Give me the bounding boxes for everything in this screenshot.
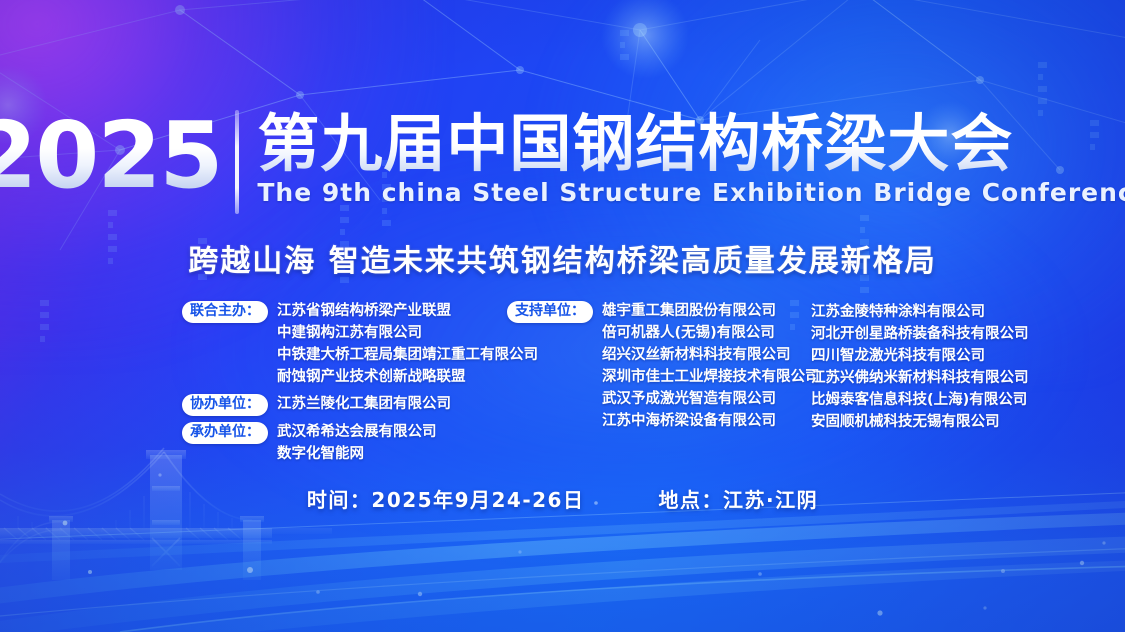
organizer-group-host: 承办单位： 武汉希希达会展有限公司 数字化智能网 (182, 421, 507, 465)
list-item: 江苏兴佛纳米新材料科技有限公司 (811, 367, 1062, 389)
list-item: 河北开创星路桥装备科技有限公司 (811, 323, 1062, 345)
page-title-english: The 9th china Steel Structure Exhibition… (257, 178, 1125, 208)
list-item: 江苏省钢结构桥梁产业联盟 (277, 300, 538, 322)
supporter-list-continued: 江苏金陵特种涂料有限公司 河北开创星路桥装备科技有限公司 四川智龙激光科技有限公… (802, 301, 1062, 433)
co-organizer-list: 江苏兰陵化工集团有限公司 (268, 393, 451, 415)
list-item: 江苏金陵特种涂料有限公司 (811, 301, 1062, 323)
list-item: 武汉希希达会展有限公司 (277, 421, 437, 443)
conference-banner: 2025 第九届中国钢结构桥梁大会 The 9th china Steel St… (0, 0, 1125, 632)
event-location: 地点：江苏·江阴 (658, 484, 818, 513)
list-item: 四川智龙激光科技有限公司 (811, 345, 1062, 367)
list-item: 江苏中海桥梁设备有限公司 (602, 410, 820, 432)
event-date: 时间：2025年9月24-26日 (307, 484, 585, 513)
organizer-group-co-host: 联合主办： 江苏省钢结构桥梁产业联盟 中建钢构江苏有限公司 中铁建大桥工程局集团… (182, 300, 507, 388)
list-item: 中建钢构江苏有限公司 (277, 322, 538, 344)
organizer-column-middle: 支持单位： 雄宇重工集团股份有限公司 倍可机器人(无锡)有限公司 绍兴汉丝新材料… (507, 300, 802, 437)
list-item: 中铁建大桥工程局集团靖江重工有限公司 (277, 344, 538, 366)
supporter-list: 雄宇重工集团股份有限公司 倍可机器人(无锡)有限公司 绍兴汉丝新材料科技有限公司… (593, 300, 820, 432)
label-co-host: 联合主办： (182, 301, 268, 323)
organizer-group-supporter: 支持单位： 雄宇重工集团股份有限公司 倍可机器人(无锡)有限公司 绍兴汉丝新材料… (507, 300, 802, 432)
headline-block: 2025 第九届中国钢结构桥梁大会 The 9th china Steel St… (0, 108, 1125, 214)
event-details: 时间：2025年9月24-26日 地点：江苏·江阴 (0, 484, 1125, 513)
host-list: 武汉希希达会展有限公司 数字化智能网 (268, 421, 437, 465)
year-2025: 2025 (0, 108, 235, 204)
organizer-columns: 联合主办： 江苏省钢结构桥梁产业联盟 中建钢构江苏有限公司 中铁建大桥工程局集团… (182, 300, 1062, 470)
list-item: 武汉予成激光智造有限公司 (602, 388, 820, 410)
list-item: 比姆泰客信息科技(上海)有限公司 (811, 389, 1062, 411)
organizer-group-co-organizer: 协办单位： 江苏兰陵化工集团有限公司 (182, 393, 507, 416)
list-item: 绍兴汉丝新材料科技有限公司 (602, 344, 820, 366)
organizer-column-left: 联合主办： 江苏省钢结构桥梁产业联盟 中建钢构江苏有限公司 中铁建大桥工程局集团… (182, 300, 507, 470)
list-item: 雄宇重工集团股份有限公司 (602, 300, 820, 322)
label-co-organizer: 协办单位： (182, 394, 268, 416)
label-host: 承办单位： (182, 422, 268, 444)
list-item: 耐蚀钢产业技术创新战略联盟 (277, 366, 538, 388)
list-item: 数字化智能网 (277, 443, 437, 465)
co-host-list: 江苏省钢结构桥梁产业联盟 中建钢构江苏有限公司 中铁建大桥工程局集团靖江重工有限… (268, 300, 538, 388)
page-title: 第九届中国钢结构桥梁大会 (257, 108, 1125, 180)
list-item: 安固顺机械科技无锡有限公司 (811, 411, 1062, 433)
list-item: 深圳市佳士工业焊接技术有限公司 (602, 366, 820, 388)
organizer-column-right: 江苏金陵特种涂料有限公司 河北开创星路桥装备科技有限公司 四川智龙激光科技有限公… (802, 300, 1062, 433)
subtitle-slogan: 跨越山海 智造未来共筑钢结构桥梁高质量发展新格局 (0, 236, 1125, 280)
label-supporter: 支持单位： (507, 301, 593, 323)
list-item: 江苏兰陵化工集团有限公司 (277, 393, 451, 415)
list-item: 倍可机器人(无锡)有限公司 (602, 322, 820, 344)
